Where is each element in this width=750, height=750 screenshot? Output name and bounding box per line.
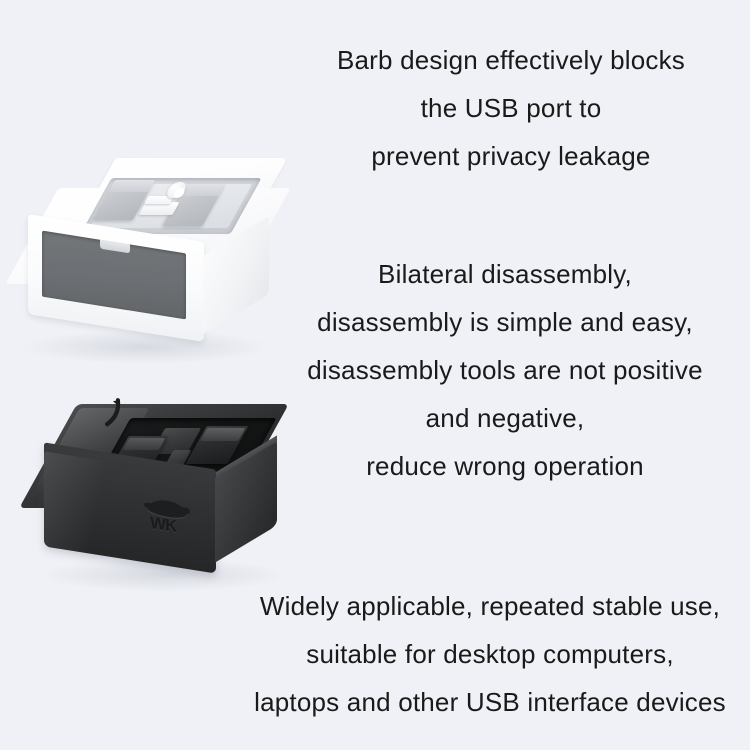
feature-text-widely-applicable: Widely applicable, repeated stable use, … (232, 582, 748, 726)
feature-text-line: Widely applicable, repeated stable use, (232, 582, 748, 630)
wk-brand-logo: WK (146, 497, 204, 548)
feature-text-bilateral-disassembly: Bilateral disassembly, disassembly is si… (270, 250, 740, 490)
feature-text-line: Bilateral disassembly, (270, 250, 740, 298)
feature-text-line: disassembly tools are not positive (270, 346, 740, 394)
feature-text-line: Barb design effectively blocks (301, 36, 721, 84)
feature-text-line: suitable for desktop computers, (232, 630, 748, 678)
feature-text-line: prevent privacy leakage (301, 132, 721, 180)
black-usb-port-blocker-image: WK (40, 398, 290, 594)
white-usb-port-blocker-image (22, 158, 284, 358)
feature-text-barb-design: Barb design effectively blocks the USB p… (301, 36, 721, 180)
feature-text-line: and negative, (270, 394, 740, 442)
product-feature-image: WK Barb design effectively blocks the US… (0, 0, 750, 750)
feature-text-line: reduce wrong operation (270, 442, 740, 490)
wk-brand-text: WK (150, 513, 176, 537)
feature-text-line: laptops and other USB interface devices (232, 678, 748, 726)
curved-arrow-icon (98, 394, 124, 432)
black-box-front-gloss (44, 451, 104, 565)
feature-text-line: the USB port to (301, 84, 721, 132)
feature-text-line: disassembly is simple and easy, (270, 298, 740, 346)
